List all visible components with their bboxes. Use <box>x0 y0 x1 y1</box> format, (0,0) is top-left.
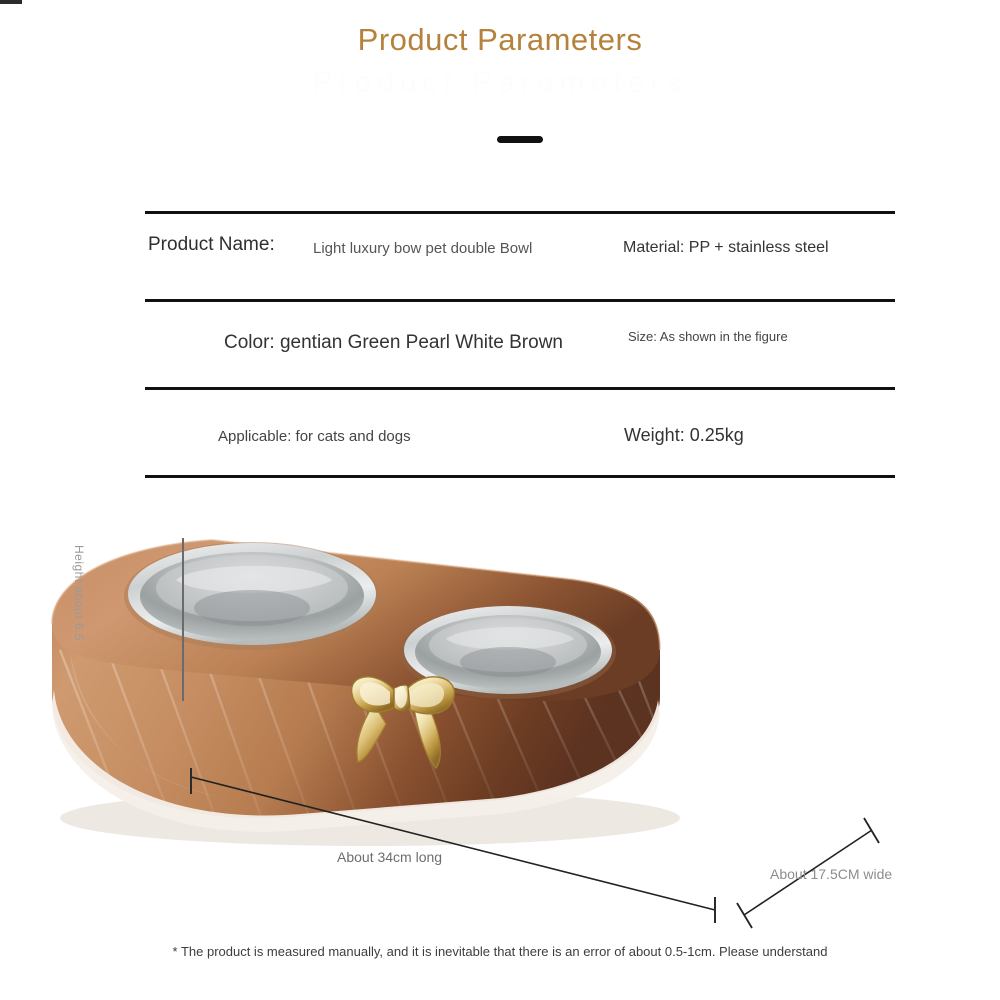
table-divider-2 <box>145 387 895 390</box>
title-divider-mark <box>497 136 543 143</box>
material-value: Material: PP + stainless steel <box>623 239 829 257</box>
color-value: Color: gentian Green Pearl White Brown <box>224 332 563 354</box>
table-divider-bottom <box>145 475 895 478</box>
size-value: Size: As shown in the figure <box>628 329 788 344</box>
height-cap-bottom <box>0 2 22 4</box>
weight-value: Weight: 0.25kg <box>624 425 744 446</box>
product-parameters-page: Product Parameters Product Parameters Pr… <box>0 0 1000 1000</box>
length-cap-right <box>714 897 716 923</box>
height-dimension-label: Height about 6.5 <box>72 545 86 695</box>
title-watermark: Product Parameters <box>0 66 1000 100</box>
table-divider-top <box>145 211 895 214</box>
product-name-value: Light luxury bow pet double Bowl <box>313 240 532 257</box>
left-steel-bowl <box>124 542 380 650</box>
applicable-value: Applicable: for cats and dogs <box>218 428 411 445</box>
length-cap-left <box>190 768 192 794</box>
product-name-label: Product Name: <box>148 234 275 256</box>
height-dimension-line <box>182 538 184 701</box>
length-dimension-label: About 34cm long <box>337 849 442 865</box>
table-divider-1 <box>145 299 895 302</box>
width-dimension-label: About 17.5CM wide <box>770 866 892 882</box>
page-title: Product Parameters <box>0 22 1000 58</box>
measurement-disclaimer: * The product is measured manually, and … <box>0 944 1000 959</box>
